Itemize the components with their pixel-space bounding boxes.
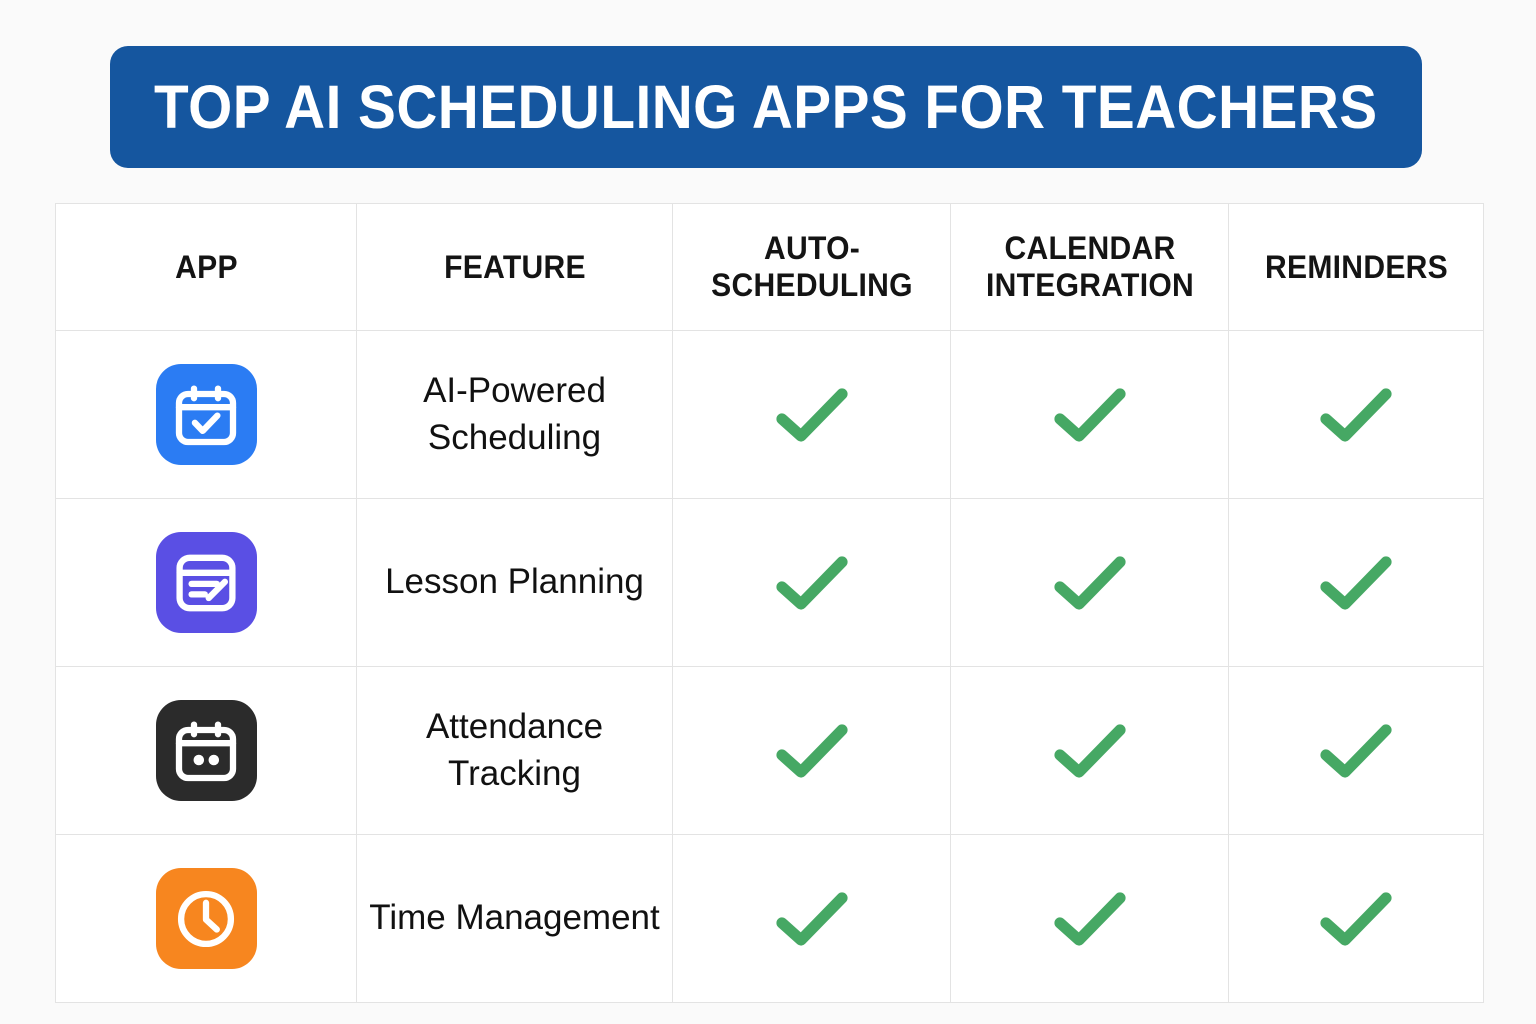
cell-auto-scheduling — [673, 667, 951, 835]
column-header-feature: FEATURE — [366, 204, 663, 331]
cell-reminders — [1229, 499, 1484, 667]
check-icon — [772, 720, 852, 782]
column-header-app: APP — [65, 204, 348, 331]
app-cell — [56, 331, 357, 499]
table-row: Lesson Planning — [56, 499, 1484, 667]
cell-auto-scheduling — [673, 499, 951, 667]
check-icon — [1050, 888, 1130, 950]
cell-reminders — [1229, 835, 1484, 1003]
cell-auto-scheduling — [673, 835, 951, 1003]
note-pencil-icon — [156, 532, 257, 633]
table-header-row: APP FEATURE AUTO-SCHEDULING CALENDAR INT… — [56, 204, 1484, 331]
cell-reminders — [1229, 667, 1484, 835]
cell-auto-scheduling — [673, 331, 951, 499]
check-icon — [772, 384, 852, 446]
column-header-calendar-integration: CALENDAR INTEGRATION — [959, 204, 1220, 331]
check-icon — [1050, 552, 1130, 614]
cell-calendar-integration — [951, 331, 1229, 499]
infographic-page: TOP AI SCHEDULING APPS FOR TEACHERS APP … — [0, 0, 1536, 1024]
cell-calendar-integration — [951, 835, 1229, 1003]
feature-label: Attendance Tracking — [357, 667, 673, 835]
calendar-dots-icon — [156, 700, 257, 801]
clock-icon — [156, 868, 257, 969]
app-cell — [56, 835, 357, 1003]
table-row: Attendance Tracking — [56, 667, 1484, 835]
table-row: Time Management — [56, 835, 1484, 1003]
check-icon — [1316, 552, 1396, 614]
feature-label: Lesson Planning — [357, 499, 673, 667]
cell-calendar-integration — [951, 667, 1229, 835]
check-icon — [772, 888, 852, 950]
check-icon — [1050, 384, 1130, 446]
check-icon — [1316, 888, 1396, 950]
calendar-check-icon — [156, 364, 257, 465]
title-banner: TOP AI SCHEDULING APPS FOR TEACHERS — [110, 46, 1422, 168]
page-title: TOP AI SCHEDULING APPS FOR TEACHERS — [154, 77, 1378, 138]
check-icon — [1050, 720, 1130, 782]
table-body: AI-Powered Scheduling — [56, 331, 1484, 1003]
check-icon — [772, 552, 852, 614]
feature-label: Time Management — [357, 835, 673, 1003]
app-cell — [56, 499, 357, 667]
check-icon — [1316, 720, 1396, 782]
feature-label: AI-Powered Scheduling — [357, 331, 673, 499]
check-icon — [1316, 384, 1396, 446]
column-header-auto-scheduling: AUTO-SCHEDULING — [681, 204, 942, 331]
cell-calendar-integration — [951, 499, 1229, 667]
cell-reminders — [1229, 331, 1484, 499]
column-header-reminders: REMINDERS — [1236, 204, 1476, 331]
table-row: AI-Powered Scheduling — [56, 331, 1484, 499]
app-cell — [56, 667, 357, 835]
comparison-table: APP FEATURE AUTO-SCHEDULING CALENDAR INT… — [55, 203, 1484, 1003]
